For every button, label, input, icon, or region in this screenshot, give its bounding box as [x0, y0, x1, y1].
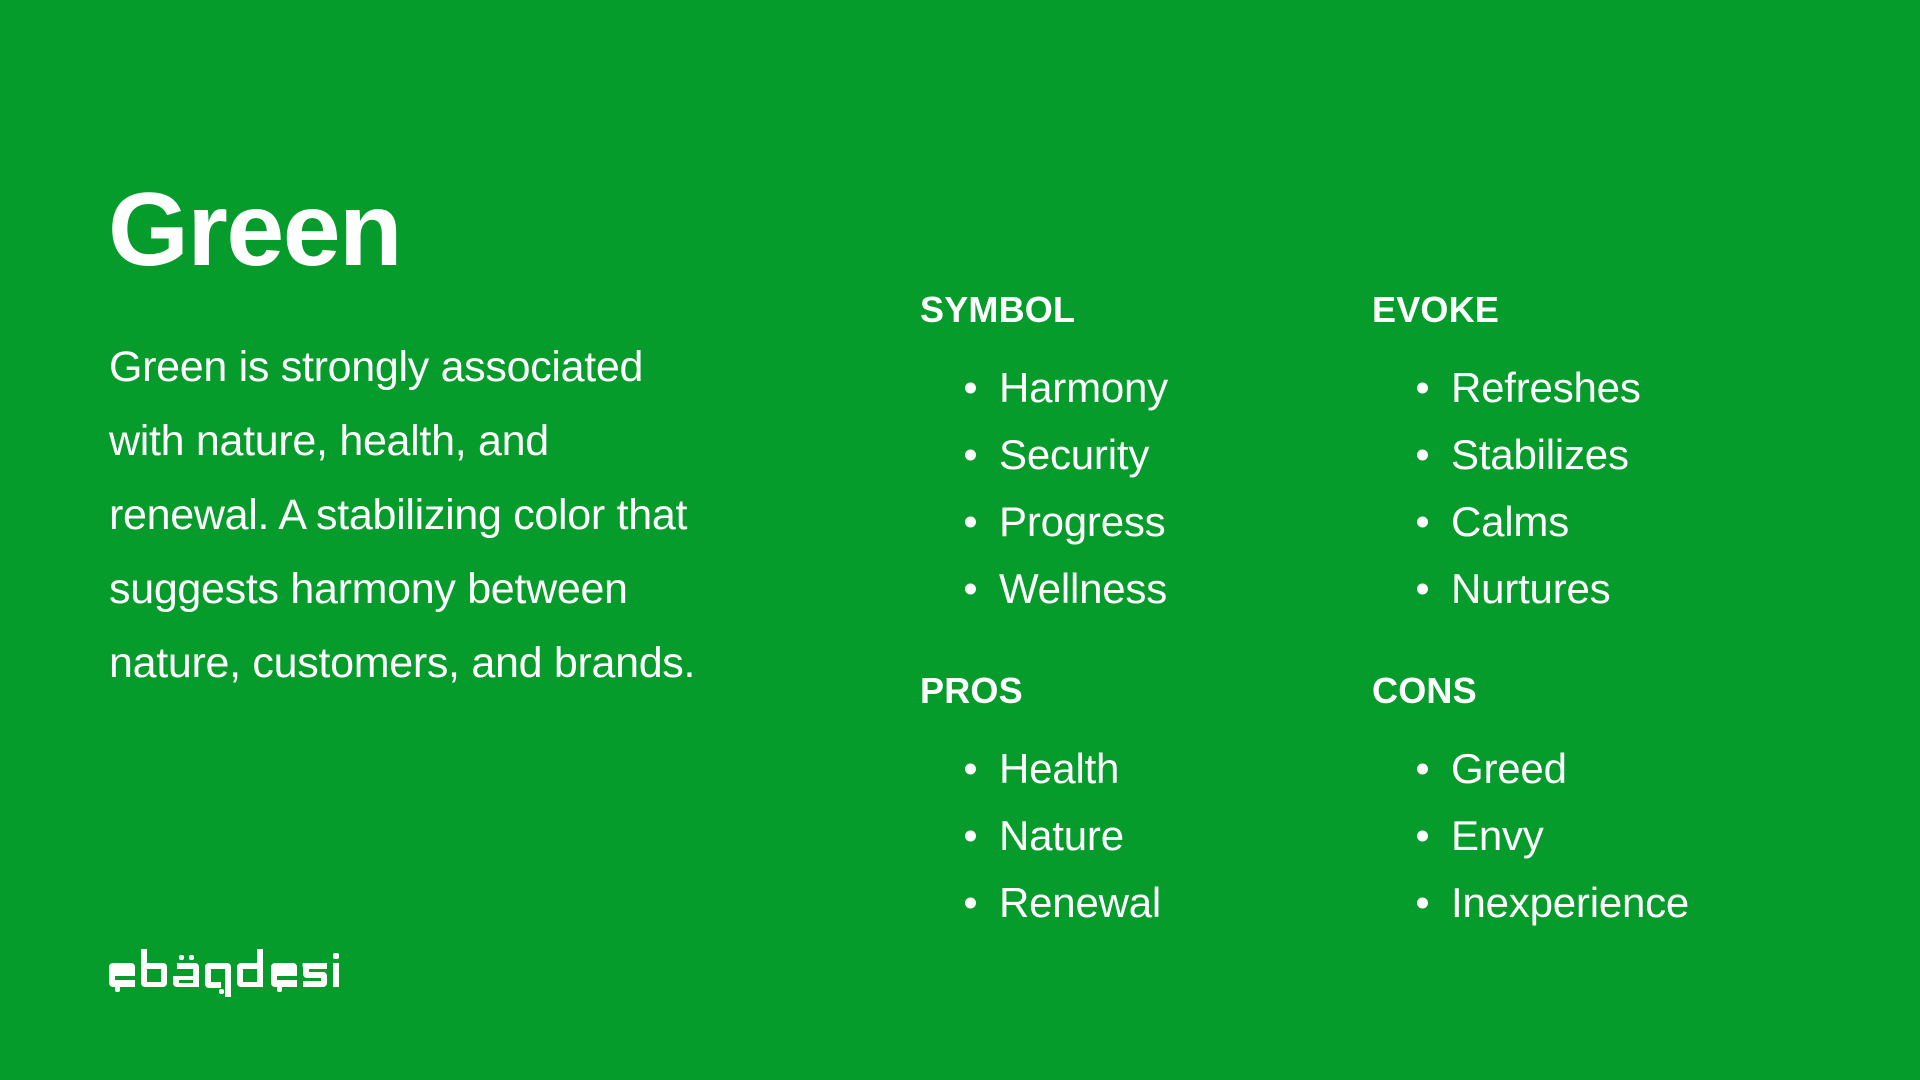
attribute-column-pros: PROS Health Nature Renewal	[920, 673, 1340, 936]
list-item: Health	[920, 735, 1340, 802]
list-item: Wellness	[920, 555, 1340, 622]
bullet-icon	[1417, 830, 1428, 841]
list-item-label: Harmony	[999, 364, 1168, 411]
list-item-label: Refreshes	[1451, 364, 1641, 411]
bullet-icon	[965, 449, 976, 460]
list-item-label: Nurtures	[1451, 565, 1610, 612]
color-description: Green is strongly associated with nature…	[109, 330, 709, 700]
list-item: Calms	[1372, 488, 1792, 555]
attribute-list-symbol: Harmony Security Progress Wellness	[920, 354, 1340, 622]
list-item: Stabilizes	[1372, 421, 1792, 488]
column-heading-evoke: EVOKE	[1372, 292, 1792, 328]
attribute-list-evoke: Refreshes Stabilizes Calms Nurtures	[1372, 354, 1792, 622]
list-item: Security	[920, 421, 1340, 488]
bullet-icon	[965, 382, 976, 393]
list-item-label: Inexperience	[1451, 879, 1689, 926]
bullet-icon	[1417, 382, 1428, 393]
bullet-icon	[965, 763, 976, 774]
column-heading-cons: CONS	[1372, 673, 1792, 709]
list-item: Nurtures	[1372, 555, 1792, 622]
page-title: Green	[108, 176, 401, 285]
list-item: Envy	[1372, 802, 1792, 869]
column-heading-pros: PROS	[920, 673, 1340, 709]
attribute-column-evoke: EVOKE Refreshes Stabilizes Calms Nurture…	[1372, 292, 1792, 622]
attribute-column-cons: CONS Greed Envy Inexperience	[1372, 673, 1792, 936]
bullet-icon	[1417, 449, 1428, 460]
bullet-icon	[1417, 516, 1428, 527]
bullet-icon	[965, 583, 976, 594]
list-item-label: Security	[999, 431, 1149, 478]
list-item: Renewal	[920, 869, 1340, 936]
list-item-label: Greed	[1451, 745, 1567, 792]
list-item-label: Progress	[999, 498, 1165, 545]
list-item: Nature	[920, 802, 1340, 869]
bullet-icon	[965, 830, 976, 841]
list-item-label: Stabilizes	[1451, 431, 1629, 478]
list-item: Greed	[1372, 735, 1792, 802]
bullet-icon	[965, 897, 976, 908]
bullet-icon	[1417, 583, 1428, 594]
list-item: Inexperience	[1372, 869, 1792, 936]
bullet-icon	[965, 516, 976, 527]
color-psychology-slide: Green Green is strongly associated with …	[0, 0, 1920, 1080]
column-heading-symbol: SYMBOL	[920, 292, 1340, 328]
brand-logo: ebaqdesign	[107, 945, 352, 997]
bullet-icon	[1417, 763, 1428, 774]
list-item: Harmony	[920, 354, 1340, 421]
list-item-label: Wellness	[999, 565, 1167, 612]
list-item-label: Envy	[1451, 812, 1544, 859]
attribute-list-pros: Health Nature Renewal	[920, 735, 1340, 936]
ebaqdesign-logo-icon	[107, 945, 352, 997]
bullet-icon	[1417, 897, 1428, 908]
list-item: Progress	[920, 488, 1340, 555]
list-item-label: Renewal	[999, 879, 1161, 926]
list-item: Refreshes	[1372, 354, 1792, 421]
list-item-label: Calms	[1451, 498, 1569, 545]
attribute-list-cons: Greed Envy Inexperience	[1372, 735, 1792, 936]
list-item-label: Health	[999, 745, 1119, 792]
list-item-label: Nature	[999, 812, 1124, 859]
attribute-column-symbol: SYMBOL Harmony Security Progress Wellnes…	[920, 292, 1340, 622]
